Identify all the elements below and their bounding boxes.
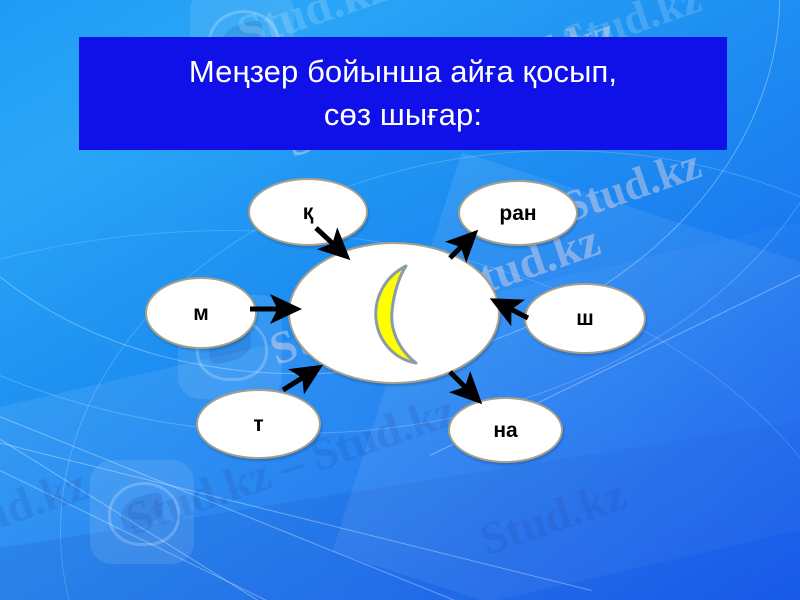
node-m[interactable]: м <box>145 277 257 349</box>
arrow-t-to-center <box>283 368 318 390</box>
node-na[interactable]: на <box>448 397 563 463</box>
title-banner: Меңзер бойынша айға қосып, сөз шығар: <box>79 37 727 150</box>
node-label: ран <box>499 203 536 224</box>
node-label: т <box>253 414 263 435</box>
node-q[interactable]: қ <box>248 178 368 246</box>
arrow-center-to-na <box>450 372 478 400</box>
node-sh[interactable]: ш <box>524 283 646 354</box>
node-ran[interactable]: ран <box>458 180 578 246</box>
crescent-moon-icon <box>368 263 440 365</box>
node-label: м <box>193 303 209 324</box>
node-label: ш <box>576 308 594 329</box>
page-title: Меңзер бойынша айға қосып, сөз шығар: <box>177 51 629 135</box>
slide-canvas: Stud.kz Stud.kz Stud.kz – Stud.kz Stud.k… <box>0 0 800 600</box>
node-label: на <box>493 420 517 441</box>
node-label: қ <box>303 202 314 223</box>
node-t[interactable]: т <box>196 389 321 459</box>
